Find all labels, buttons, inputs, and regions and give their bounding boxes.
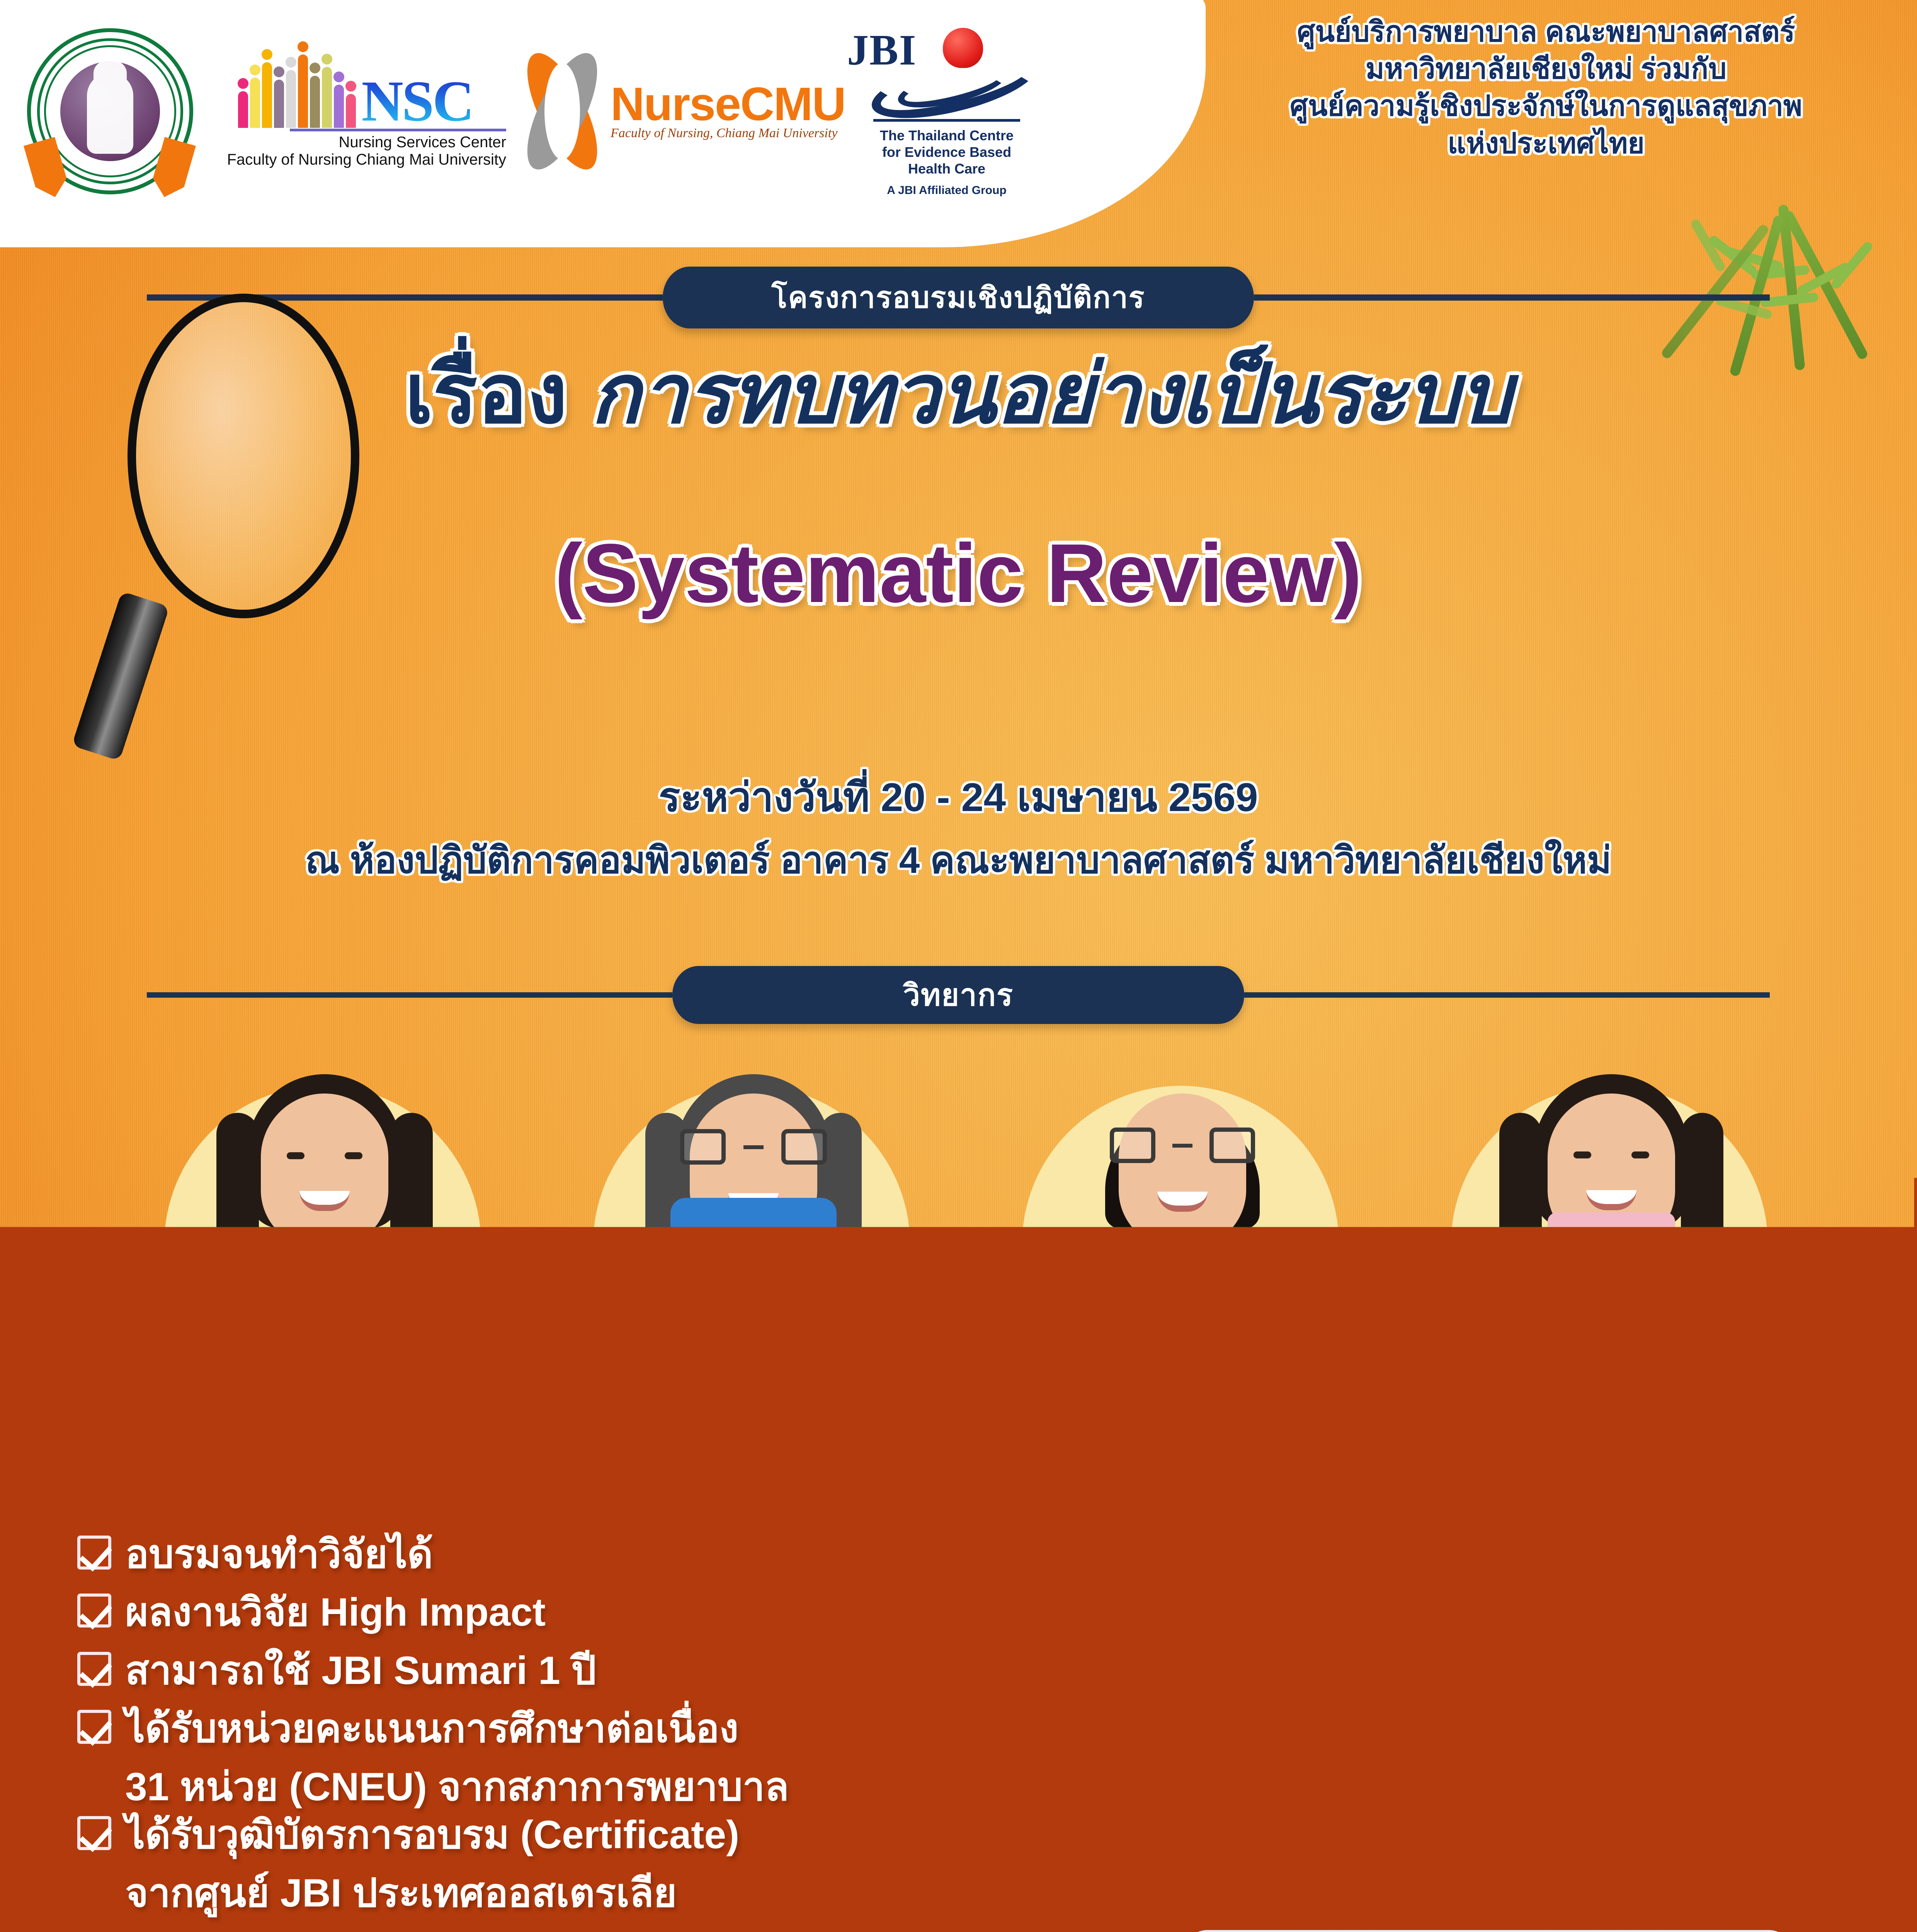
event-venue: ณ ห้องปฏิบัติการคอมพิวเตอร์ อาคาร 4 คณะพ… <box>54 831 1863 889</box>
nsc-logo: NSC Nursing Services Center Faculty of N… <box>205 54 506 168</box>
event-date: ระหว่างวันที่ 20 - 24 เมษายน 2569 <box>77 765 1839 829</box>
people-icon <box>238 54 356 128</box>
organizer-block: ศูนย์บริการพยาบาล คณะพยาบาลศาสตร์ มหาวิท… <box>1198 13 1894 162</box>
page-title: เรื่อง การทบทวนอย่างเป็นระบบ <box>77 348 1839 440</box>
speakers-rule-left <box>147 992 672 998</box>
magnifier-green-icon <box>1612 1770 1739 1897</box>
checkbox-icon <box>77 1536 111 1570</box>
chat-bubble-icon <box>1388 1596 1504 1673</box>
review-card <box>1577 1515 1743 1545</box>
organizer-line-4: แห่งประเทศไทย <box>1198 125 1894 162</box>
benefit-text: ได้รับวุฒิบัตรการอบรม (Certificate) <box>125 1811 739 1859</box>
badge-rule-right <box>1254 294 1770 301</box>
title-prefix: เรื่อง <box>405 348 567 440</box>
checkbox-icon <box>77 1816 111 1850</box>
speaker-card: รศ.ดร.วันชัย เลิศวัฒนวิลาศ <box>985 1059 1376 1472</box>
title-thai-text: การทบทวนอย่างเป็นระบบ <box>590 348 1512 440</box>
jbi-line2: for Evidence Based <box>839 144 1055 160</box>
speaker-card: ผศ.ดร.ณัฏฐณิชา ศรีบุณยวัฒน <box>1414 1059 1805 1472</box>
speakers-rule-right <box>1244 992 1770 998</box>
jbi-logo: JBI The Thailand Centre for Evidence Bas… <box>839 26 1055 197</box>
jbi-line3: Health Care <box>839 160 1055 177</box>
organizer-line-3: ศูนย์ความรู้เชิงประจักษ์ในการดูแลสุขภาพ <box>1198 87 1894 124</box>
benefits-list: อบรมจนทำวิจัยได้ ผลงานวิจัย High Impact … <box>77 1530 1179 1917</box>
laptop-review-illustration <box>1171 1499 1874 1932</box>
benefit-item: ผลงานวิจัย High Impact <box>77 1588 1179 1636</box>
speaker-name: ผศ.ดร.ณัฏฐณิชา ศรีบุณยวัฒน <box>1453 1404 1766 1430</box>
jbi-letters: JBI <box>847 26 917 75</box>
nursecmu-sub: Faculty of Nursing, Chiang Mai Universit… <box>611 126 845 141</box>
benefit-text: อบรมจนทำวิจัยได้ <box>125 1530 433 1578</box>
jbi-line1: The Thailand Centre <box>839 127 1055 144</box>
review-card <box>1589 1673 1770 1714</box>
speaker-photo <box>614 1063 893 1395</box>
logo-strip: NSC Nursing Services Center Faculty of N… <box>15 7 1167 216</box>
checkbox-icon <box>77 1652 111 1686</box>
benefit-item: สามารถใช้ JBI Sumari 1 ปี <box>77 1646 1179 1694</box>
benefit-text-continued: 31 หน่วย (CNEU) จากสภาการพยาบาล <box>77 1763 1179 1811</box>
speaker-name-badge: ผศ.ดร.ณัฏฐณิชา ศรีบุณยวัฒน <box>1434 1376 1785 1459</box>
nursecmu-word: NurseCMU <box>611 82 845 126</box>
benefit-text: ผลงานวิจัย High Impact <box>125 1588 546 1636</box>
speaker-photo <box>185 1063 464 1395</box>
nsc-line2: Faculty of Nursing Chiang Mai University <box>205 151 506 168</box>
review-card <box>1492 1592 1674 1633</box>
speakers-heading-label: วิทยากร <box>903 971 1014 1019</box>
benefit-text: ได้รับหน่วยคะแนนการศึกษาต่อเนื่อง <box>125 1704 738 1752</box>
nsc-line1: Nursing Services Center <box>205 134 506 151</box>
benefit-text-continued: จากศูนย์ JBI ประเทศออสเตรเลีย <box>77 1869 1179 1917</box>
speakers-heading-badge: วิทยากร <box>672 966 1244 1024</box>
benefit-item: ได้รับหน่วยคะแนนการศึกษาต่อเนื่อง <box>77 1704 1179 1752</box>
nsc-acronym: NSC <box>361 75 473 128</box>
benefit-item: อบรมจนทำวิจัยได้ <box>77 1530 1179 1578</box>
speaker-name: รศ.ดร.วันชัย เลิศวัฒนวิลาศ <box>1039 1404 1322 1430</box>
organizer-line-1: ศูนย์บริการพยาบาล คณะพยาบาลศาสตร์ <box>1198 13 1894 50</box>
header: NSC Nursing Services Center Faculty of N… <box>0 0 1917 226</box>
organizer-line-2: มหาวิทยาลัยเชียงใหม่ ร่วมกับ <box>1198 50 1894 87</box>
check-circle-icon <box>1480 1716 1569 1804</box>
poster-root: NSC Nursing Services Center Faculty of N… <box>0 0 1917 1932</box>
badge-rule-left <box>147 294 663 301</box>
checkbox-icon <box>77 1710 111 1744</box>
nursecmu-mark-icon <box>518 48 607 175</box>
jbi-affiliate: A JBI Affiliated Group <box>839 184 1055 197</box>
nursecmu-logo: NurseCMU Faculty of Nursing, Chiang Mai … <box>518 48 827 175</box>
speaker-card: ผศ.ดร.จินดารัตน์ ชัยอาจ <box>556 1059 947 1472</box>
speaker-name: ผศ.ดร.จินดารัตน์ ชัยอาจ <box>624 1404 878 1430</box>
cmu-faculty-seal-logo <box>27 28 193 194</box>
speaker-name-badge: อ.ดร.นงลักษณ์ เฉลิมสุข <box>147 1376 498 1459</box>
benefit-text: สามารถใช้ JBI Sumari 1 ปี <box>125 1646 596 1694</box>
program-badge-label: โครงการอบรมเชิงปฏิบัติการ <box>772 274 1145 321</box>
speaker-name: อ.ดร.นงลักษณ์ เฉลิมสุข <box>201 1404 445 1430</box>
speaker-name-badge: ผศ.ดร.จินดารัตน์ ชัยอาจ <box>576 1376 927 1459</box>
speaker-photo <box>1043 1063 1322 1395</box>
speakers-heading-row: วิทยากร <box>147 966 1770 1024</box>
speaker-name-badge: รศ.ดร.วันชัย เลิศวัฒนวิลาศ <box>1005 1376 1356 1459</box>
checkbox-icon <box>77 1594 111 1628</box>
speakers-grid: อ.ดร.นงลักษณ์ เฉลิมสุข ผศ.ดร.จินดารัตน์ … <box>128 1059 1805 1472</box>
benefit-item: ได้รับวุฒิบัตรการอบรม (Certificate) <box>77 1811 1179 1859</box>
speaker-photo <box>1472 1063 1750 1395</box>
program-badge-row: โครงการอบรมเชิงปฏิบัติการ <box>147 267 1770 328</box>
title-english: (Systematic Review) <box>77 529 1839 617</box>
speaker-card: อ.ดร.นงลักษณ์ เฉลิมสุข <box>128 1059 518 1472</box>
program-badge: โครงการอบรมเชิงปฏิบัติการ <box>663 267 1254 328</box>
